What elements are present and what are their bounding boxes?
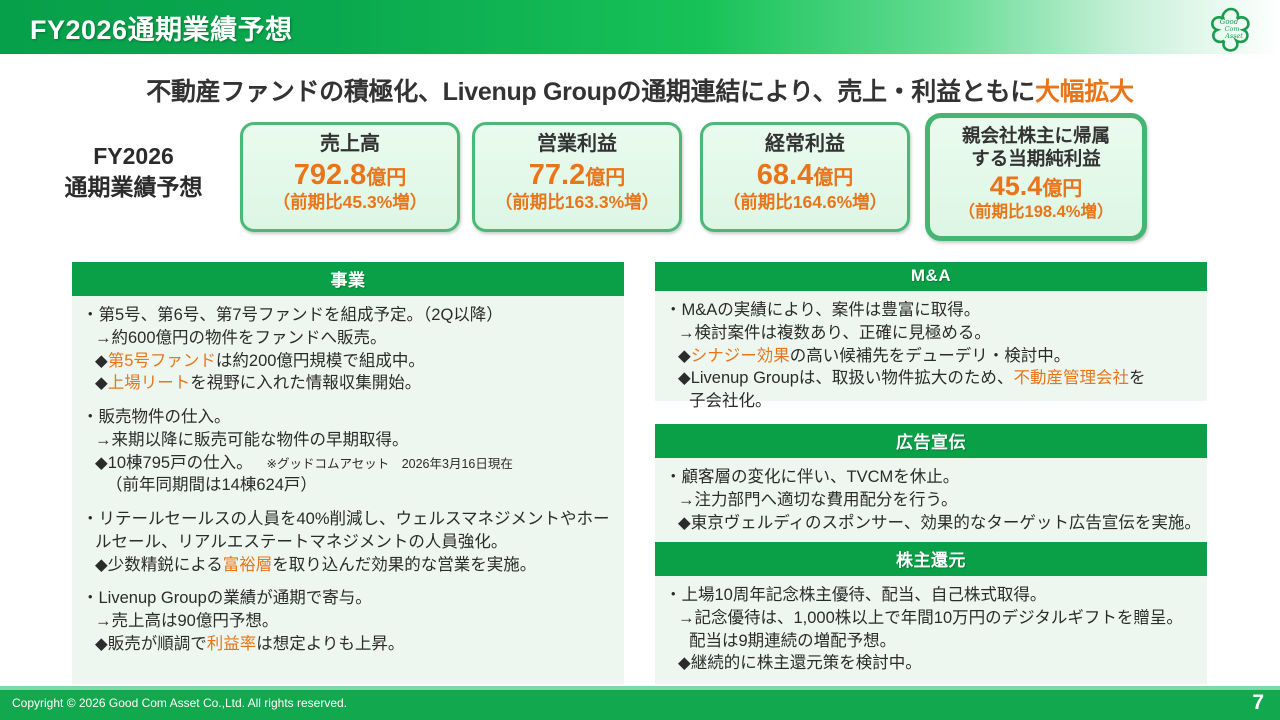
text-run: ・上場10周年記念株主優待、配当、自己株式取得。 <box>665 586 1046 604</box>
kpi-card-title-line1: 親会社株主に帰属 <box>930 125 1142 148</box>
panel-business: 事業 ・第5号、第6号、第7号ファンドを組成予定。（2Q以降）→約600億円の物… <box>72 262 624 684</box>
highlighted-keyword: 第5号ファンド <box>108 352 216 370</box>
text-run: を視野に入れた情報収集開始。 <box>190 374 421 392</box>
panel-content: ・顧客層の変化に伴い、TVCMを休止。→注力部門へ適切な費用配分を行う。◆東京ヴ… <box>655 458 1207 544</box>
text-run: ◆ <box>95 374 108 392</box>
kpi-card-value: 68.4億円 <box>703 159 907 192</box>
panel-title: 事業 <box>72 262 624 296</box>
panel-text-line: 子会社化。 <box>665 390 1197 413</box>
slide-header: FY2026通期業績予想 Good Com Asset <box>0 0 1280 54</box>
text-run: を取り込んだ効果的な営業を実施。 <box>272 556 536 574</box>
text-run: ・Livenup Groupの業績が通期で寄与。 <box>82 589 372 607</box>
kpi-label-line2: 通期業績予想 <box>46 172 221 203</box>
panel-text-line: →来期以降に販売可能な物件の早期取得。 <box>82 429 614 452</box>
kpi-card-title: 営業利益 <box>475 133 679 157</box>
text-run: ・M&Aの実績により、案件は豊富に取得。 <box>665 301 980 319</box>
text-run: →記念優待は、1,000株以上で年間10万円のデジタルギフトを贈呈。 <box>678 609 1183 627</box>
panel-text-line: 配当は9期連続の増配予想。 <box>665 630 1197 653</box>
panel-text-line: ◆継続的に株主還元策を検討中。 <box>665 652 1197 675</box>
panel-paragraph: ・M&Aの実績により、案件は豊富に取得。→検討案件は複数あり、正確に見極める。◆… <box>665 299 1197 413</box>
panel-paragraph: ・上場10周年記念株主優待、配当、自己株式取得。→記念優待は、1,000株以上で… <box>665 584 1197 675</box>
kpi-card-title-line2: する当期純利益 <box>930 148 1142 171</box>
text-run: ◆ <box>95 352 108 370</box>
panel-content: ・第5号、第6号、第7号ファンドを組成予定。（2Q以降）→約600億円の物件をフ… <box>72 296 624 684</box>
panel-text-line: ・上場10周年記念株主優待、配当、自己株式取得。 <box>665 584 1197 607</box>
copyright-text: Copyright © 2026 Good Com Asset Co.,Ltd.… <box>12 696 347 710</box>
text-run: 子会社化。 <box>689 392 772 410</box>
kpi-value-number: 68.4 <box>757 159 813 191</box>
kpi-section-label: FY2026 通期業績予想 <box>46 141 221 203</box>
kpi-value-number: 77.2 <box>529 159 585 191</box>
kpi-card-title: 売上高 <box>243 133 457 157</box>
text-run: ◆東京ヴェルディのスポンサー、効果的なターゲット広告宣伝を実施。 <box>678 514 1201 532</box>
kpi-value-number: 45.4 <box>990 171 1043 201</box>
panel-text-line: ◆販売が順調で利益率は想定よりも上昇。 <box>82 633 614 656</box>
kpi-card-change: （前期比45.3%増） <box>243 193 457 212</box>
page-title: FY2026通期業績予想 <box>30 8 293 47</box>
panel-title: 広告宣伝 <box>655 424 1207 458</box>
kpi-card-ordinary-profit: 経常利益 68.4億円 （前期比164.6%増） <box>700 122 910 232</box>
panel-title: M&A <box>655 262 1207 291</box>
panel-text-line: ◆東京ヴェルディのスポンサー、効果的なターゲット広告宣伝を実施。 <box>665 512 1197 535</box>
company-logo-icon: Good Com Asset <box>1200 2 1262 52</box>
highlighted-keyword: 利益率 <box>207 635 257 653</box>
svg-text:Asset: Asset <box>1224 32 1243 40</box>
subtitle-main-text: 不動産ファンドの積極化、Livenup Groupの通期連結により、売上・利益と… <box>146 78 1035 106</box>
text-run: ルセール、リアルエステートマネジメントの人員強化。 <box>95 533 507 551</box>
page-number: 7 <box>1252 691 1264 715</box>
text-run: を <box>1129 369 1146 387</box>
text-run: は想定よりも上昇。 <box>256 635 404 653</box>
text-run: ・第5号、第6号、第7号ファンドを組成予定。（2Q以降） <box>82 306 503 324</box>
text-run: →注力部門へ適切な費用配分を行う。 <box>678 491 958 509</box>
kpi-card-net-income: 親会社株主に帰属 する当期純利益 45.4億円 （前期比198.4%増） <box>925 113 1147 241</box>
text-run: ・販売物件の仕入。 <box>82 408 231 426</box>
text-run: →来期以降に販売可能な物件の早期取得。 <box>95 431 409 449</box>
panel-text-line: ・販売物件の仕入。 <box>82 406 614 429</box>
text-run: ・リテールセールスの人員を40%削減し、ウェルスマネジメントやホー <box>82 510 610 528</box>
panel-text-line: ・Livenup Groupの業績が通期で寄与。 <box>82 587 614 610</box>
kpi-value-unit: 億円 <box>366 167 406 189</box>
panel-title: 株主還元 <box>655 542 1207 576</box>
kpi-value-unit: 億円 <box>1042 178 1082 200</box>
highlighted-keyword: シナジー効果 <box>691 347 790 365</box>
kpi-card-change: （前期比164.6%増） <box>703 193 907 212</box>
kpi-value-unit: 億円 <box>813 167 853 189</box>
text-run: ◆継続的に株主還元策を検討中。 <box>678 654 922 672</box>
text-run: ・顧客層の変化に伴い、TVCMを休止。 <box>665 468 959 486</box>
kpi-card-title: 経常利益 <box>703 133 907 157</box>
text-run: →約600億円の物件をファンドへ販売。 <box>95 329 387 347</box>
text-run: ◆販売が順調で <box>95 635 207 653</box>
text-run: →売上高は90億円予想。 <box>95 612 278 630</box>
panel-text-line: ◆シナジー効果の高い候補先をデューデリ・検討中。 <box>665 345 1197 368</box>
kpi-value-number: 792.8 <box>294 159 367 191</box>
highlighted-keyword: 上場リート <box>108 374 191 392</box>
text-run: →検討案件は複数あり、正確に見極める。 <box>678 324 991 342</box>
panel-shareholder-return: 株主還元 ・上場10周年記念株主優待、配当、自己株式取得。→記念優待は、1,00… <box>655 542 1207 684</box>
text-run: の高い候補先をデューデリ・検討中。 <box>790 347 1071 365</box>
text-run: （前年同期間は14棟624戸） <box>106 476 317 494</box>
kpi-card-value: 792.8億円 <box>243 159 457 192</box>
panel-text-line: ◆少数精鋭による富裕層を取り込んだ効果的な営業を実施。 <box>82 554 614 577</box>
kpi-label-line1: FY2026 <box>46 141 221 172</box>
kpi-card-change: （前期比198.4%増） <box>930 203 1142 221</box>
slide-footer: Copyright © 2026 Good Com Asset Co.,Ltd.… <box>0 690 1280 720</box>
panel-text-line: ・M&Aの実績により、案件は豊富に取得。 <box>665 299 1197 322</box>
kpi-card-operating-profit: 営業利益 77.2億円 （前期比163.3%増） <box>472 122 682 232</box>
text-run: ◆ <box>678 347 691 365</box>
panel-advertising: 広告宣伝 ・顧客層の変化に伴い、TVCMを休止。→注力部門へ適切な費用配分を行う… <box>655 424 1207 544</box>
panel-paragraph: ・Livenup Groupの業績が通期で寄与。→売上高は90億円予想。◆販売が… <box>82 587 614 655</box>
panel-text-line: ・リテールセールスの人員を40%削減し、ウェルスマネジメントやホー <box>82 508 614 531</box>
slide-subtitle: 不動産ファンドの積極化、Livenup Groupの通期連結により、売上・利益と… <box>0 72 1280 108</box>
text-run: ◆10棟795戸の仕入。 <box>95 454 253 472</box>
panel-text-line: →検討案件は複数あり、正確に見極める。 <box>665 322 1197 345</box>
panel-content: ・上場10周年記念株主優待、配当、自己株式取得。→記念優待は、1,000株以上で… <box>655 576 1207 684</box>
panel-text-line: ・顧客層の変化に伴い、TVCMを休止。 <box>665 466 1197 489</box>
kpi-card-revenue: 売上高 792.8億円 （前期比45.3%増） <box>240 122 460 232</box>
kpi-card-change: （前期比163.3%増） <box>475 193 679 212</box>
kpi-card-title: 親会社株主に帰属 する当期純利益 <box>930 125 1142 170</box>
text-run: 配当は9期連続の増配予想。 <box>689 632 896 650</box>
subtitle-highlight-text: 大幅拡大 <box>1035 78 1134 106</box>
text-run: ◆Livenup Groupは、取扱い物件拡大のため、 <box>678 369 1013 387</box>
panel-paragraph: ・第5号、第6号、第7号ファンドを組成予定。（2Q以降）→約600億円の物件をフ… <box>82 304 614 395</box>
panel-text-line: →売上高は90億円予想。 <box>82 610 614 633</box>
panel-paragraph: ・リテールセールスの人員を40%削減し、ウェルスマネジメントやホールセール、リア… <box>82 508 614 576</box>
panel-text-line: ◆10棟795戸の仕入。 ※グッドコムアセット 2026年3月16日現在 <box>82 452 614 475</box>
panel-text-line: ◆第5号ファンドは約200億円規模で組成中。 <box>82 350 614 373</box>
highlighted-keyword: 不動産管理会社 <box>1013 369 1129 387</box>
panel-text-line: →約600億円の物件をファンドへ販売。 <box>82 327 614 350</box>
panel-text-line: （前年同期間は14棟624戸） <box>82 474 614 497</box>
panel-paragraph: ・販売物件の仕入。→来期以降に販売可能な物件の早期取得。◆10棟795戸の仕入。… <box>82 406 614 497</box>
panel-text-line: →注力部門へ適切な費用配分を行う。 <box>665 489 1197 512</box>
text-run: ◆少数精鋭による <box>95 556 223 574</box>
kpi-card-value: 77.2億円 <box>475 159 679 192</box>
panel-mna: M&A ・M&Aの実績により、案件は豊富に取得。→検討案件は複数あり、正確に見極… <box>655 262 1207 401</box>
footnote-text: ※グッドコムアセット 2026年3月16日現在 <box>253 457 513 471</box>
panel-text-line: ・第5号、第6号、第7号ファンドを組成予定。（2Q以降） <box>82 304 614 327</box>
panel-text-line: ◆Livenup Groupは、取扱い物件拡大のため、不動産管理会社を <box>665 367 1197 390</box>
panel-text-line: ◆上場リートを視野に入れた情報収集開始。 <box>82 372 614 395</box>
panel-paragraph: ・顧客層の変化に伴い、TVCMを休止。→注力部門へ適切な費用配分を行う。◆東京ヴ… <box>665 466 1197 534</box>
text-run: は約200億円規模で組成中。 <box>216 352 425 370</box>
panel-content: ・M&Aの実績により、案件は豊富に取得。→検討案件は複数あり、正確に見極める。◆… <box>655 291 1207 401</box>
kpi-card-value: 45.4億円 <box>930 171 1142 202</box>
panel-text-line: →記念優待は、1,000株以上で年間10万円のデジタルギフトを贈呈。 <box>665 607 1197 630</box>
kpi-value-unit: 億円 <box>585 167 625 189</box>
panel-text-line: ルセール、リアルエステートマネジメントの人員強化。 <box>82 531 614 554</box>
highlighted-keyword: 富裕層 <box>223 556 273 574</box>
